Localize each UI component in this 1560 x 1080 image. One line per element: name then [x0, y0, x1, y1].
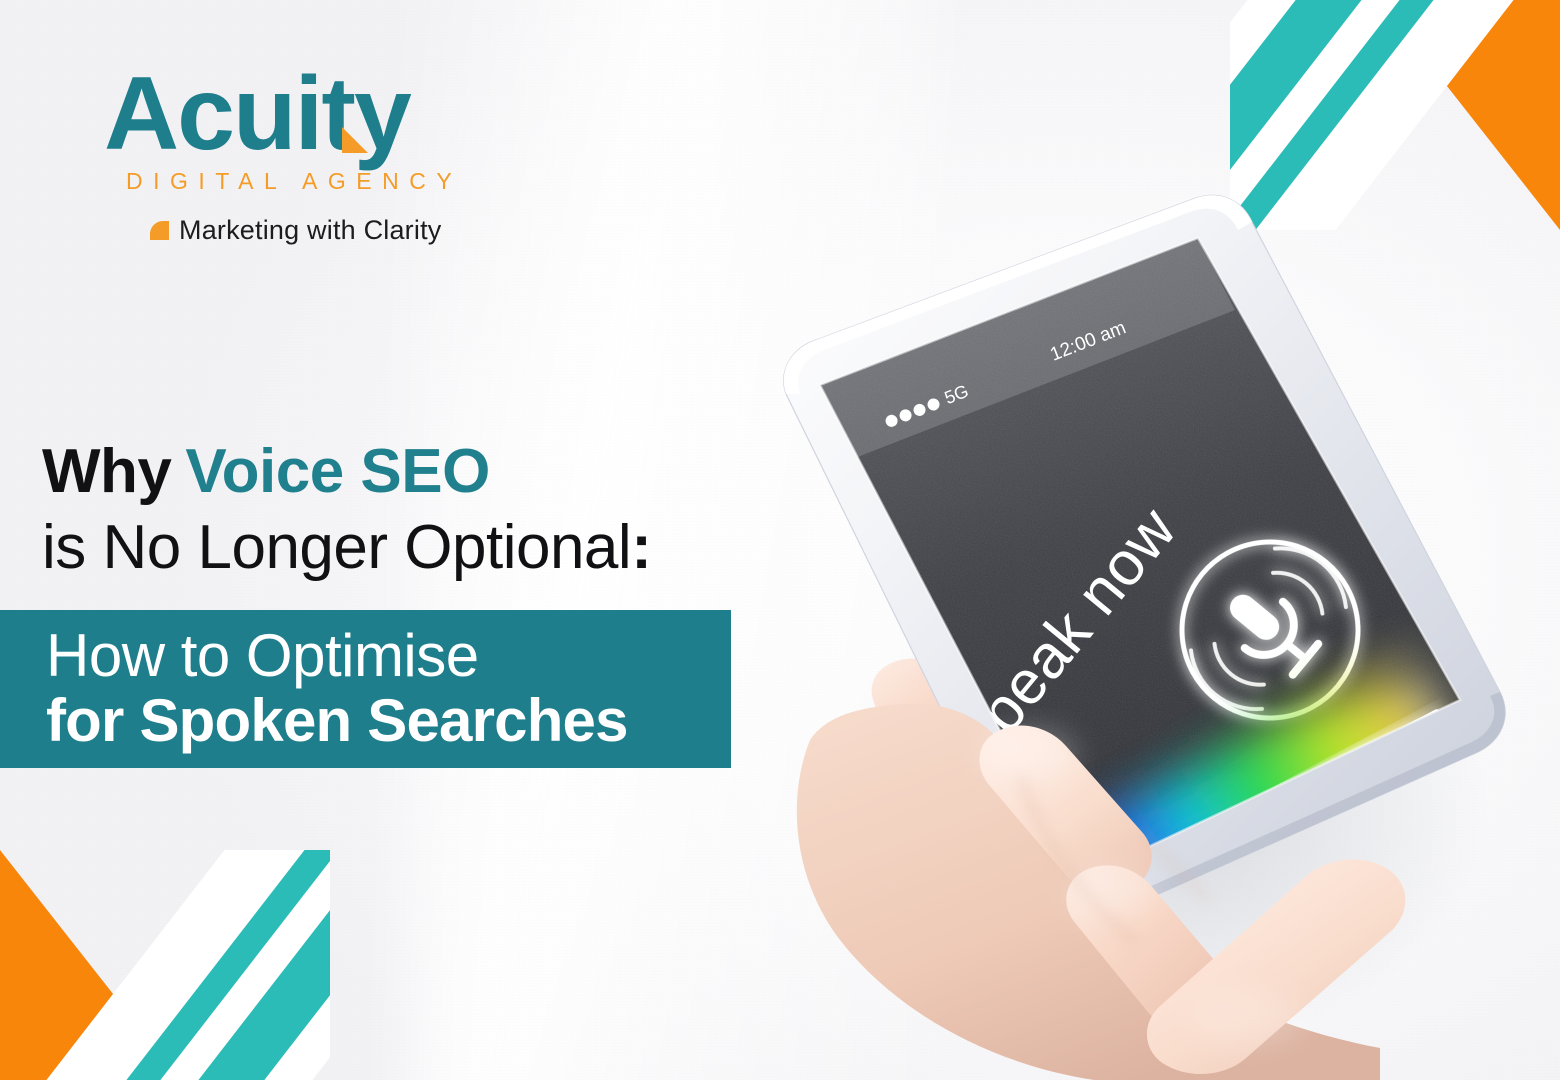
headline-teal-band: How to Optimise for Spoken Searches	[0, 610, 731, 768]
battery-icon	[1276, 242, 1322, 274]
logo-wordmark: Acuity	[104, 62, 534, 166]
headline-line-3: How to Optimise	[46, 624, 628, 689]
headline-line-4: for Spoken Searches	[46, 689, 628, 754]
tagline-triangle-icon	[150, 221, 169, 240]
headline-line-2: is No Longer Optional:	[42, 516, 802, 580]
headline-colon: :	[631, 513, 651, 582]
logo-subtitle: DIGITAL AGENCY	[126, 168, 534, 195]
corner-decoration-bottom-left	[0, 850, 330, 1080]
headline-why: Why	[42, 437, 171, 506]
headline-band-inner: How to Optimise for Spoken Searches	[46, 624, 628, 754]
headline-line-1: WhyVoice SEO	[42, 440, 802, 504]
tagline-text: Marketing with Clarity	[179, 215, 441, 246]
headline-line-2-text: is No Longer Optional	[42, 513, 631, 582]
logo-tagline: Marketing with Clarity	[150, 215, 534, 246]
headline-group: WhyVoice SEO is No Longer Optional:	[42, 440, 802, 581]
headline-voice-seo: Voice SEO	[185, 437, 489, 506]
logo-orange-flag-icon	[340, 68, 370, 98]
brand-logo[interactable]: Acuity DIGITAL AGENCY Marketing with Cla…	[104, 62, 534, 246]
voice-seo-banner: 5G 12:00 am 100% Speak now	[0, 0, 1560, 1080]
hand-holding-phone-photo: 5G 12:00 am 100% Speak now	[690, 180, 1560, 1080]
